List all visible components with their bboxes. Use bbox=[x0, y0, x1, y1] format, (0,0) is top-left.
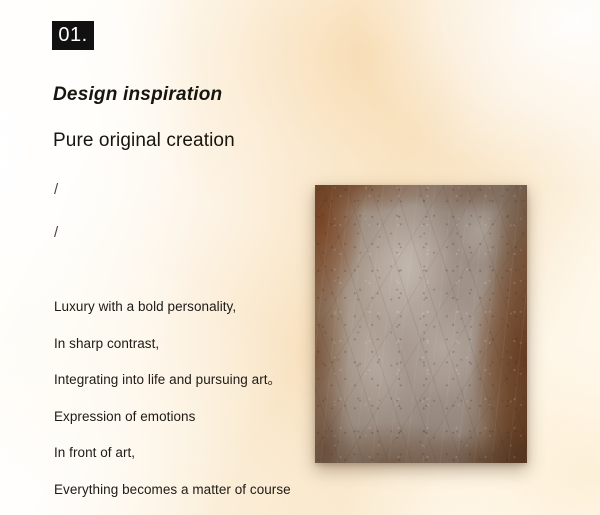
body-text-block: Luxury with a bold personality, In sharp… bbox=[54, 300, 302, 496]
concrete-texture-photo bbox=[315, 185, 527, 463]
body-line: Luxury with a bold personality, bbox=[54, 300, 302, 314]
slide-canvas: 01. Design inspiration Pure original cre… bbox=[0, 0, 600, 515]
section-number-badge: 01. bbox=[52, 21, 94, 50]
body-line: Integrating into life and pursuing art。 bbox=[54, 373, 302, 387]
divider-mark: / bbox=[54, 182, 94, 197]
divider-mark: / bbox=[54, 225, 94, 240]
body-line: Everything becomes a matter of course bbox=[54, 483, 302, 497]
divider-mark-group: / / bbox=[54, 182, 94, 268]
page-title: Design inspiration bbox=[53, 84, 222, 106]
text-content-column: 01. Design inspiration Pure original cre… bbox=[52, 0, 302, 515]
page-subtitle: Pure original creation bbox=[53, 130, 235, 152]
body-line: Expression of emotions bbox=[54, 410, 302, 424]
texture-vignette-layer bbox=[315, 185, 527, 463]
body-line: In sharp contrast, bbox=[54, 337, 302, 351]
body-line: In front of art, bbox=[54, 446, 302, 460]
